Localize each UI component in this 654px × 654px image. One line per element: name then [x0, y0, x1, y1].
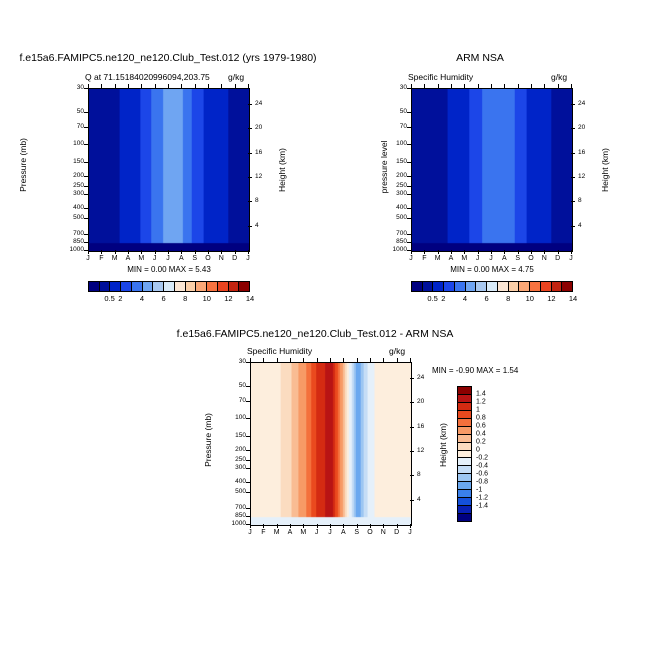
y-tick-label: 500 [235, 489, 246, 496]
month-tick-mark [317, 524, 318, 528]
month-tick-mark [221, 250, 222, 254]
height-tick-label: 8 [255, 198, 259, 205]
month-tick-mark [357, 358, 358, 362]
y-tick-mark [246, 468, 250, 469]
height-tick-mark [571, 104, 575, 105]
obs-colorbar-labels: 0.52468101214 [411, 294, 573, 304]
y-tick-label: 150 [396, 159, 407, 166]
month-tick-mark [101, 84, 102, 88]
y-tick-label: 150 [235, 433, 246, 440]
y-tick-label: 200 [73, 172, 84, 179]
y-tick-label: 70 [400, 124, 407, 131]
y-tick-mark [246, 401, 250, 402]
month-tick-mark [250, 524, 251, 528]
y-tick-mark [84, 176, 88, 177]
model-ylabel: Pressure (mb) [18, 125, 28, 205]
diff-panel-title: f.e15a6.FAMIPC5.ne120_ne120.Club_Test.01… [150, 328, 480, 340]
height-tick-label: 8 [417, 472, 421, 479]
colorbar-segment [475, 281, 486, 292]
month-tick-mark [544, 250, 545, 254]
month-tick-mark [438, 84, 439, 88]
y-tick-label: 100 [73, 140, 84, 147]
month-tick-mark [370, 524, 371, 528]
obs-subtitle-left: Specific Humidity [408, 72, 473, 82]
month-tick-mark [571, 250, 572, 254]
y-tick-label: 700 [235, 504, 246, 511]
colorbar-tick-label: 14 [569, 294, 577, 303]
month-tick-mark [478, 250, 479, 254]
y-tick-label: 400 [396, 204, 407, 211]
month-tick-mark [571, 84, 572, 88]
model-panel-title: f.e15a6.FAMIPC5.ne120_ne120.Club_Test.01… [8, 52, 328, 64]
height-tick-mark [571, 153, 575, 154]
colorbar-tick-label: -0.2 [476, 455, 488, 462]
model-ylabel-right: Height (km) [277, 135, 287, 205]
y-tick-label: 850 [73, 239, 84, 246]
month-tick-mark [250, 358, 251, 362]
colorbar-tick-label: 6 [162, 294, 166, 303]
y-tick-mark [407, 144, 411, 145]
month-tick-mark [424, 250, 425, 254]
month-tick-mark [277, 358, 278, 362]
colorbar-tick-label: 0.2 [476, 439, 486, 446]
month-tick-label: J [166, 255, 170, 262]
height-tick-mark [571, 226, 575, 227]
month-tick-label: J [315, 529, 319, 536]
month-tick-mark [411, 84, 412, 88]
month-tick-mark [290, 358, 291, 362]
y-tick-label: 850 [235, 513, 246, 520]
colorbar-segment [457, 410, 472, 418]
y-tick-label: 100 [235, 414, 246, 421]
month-tick-mark [248, 84, 249, 88]
height-tick-label: 8 [578, 198, 582, 205]
height-tick-mark [248, 201, 252, 202]
colorbar-tick-label: 2 [441, 294, 445, 303]
month-tick-label: F [99, 255, 103, 262]
colorbar-segment [443, 281, 454, 292]
colorbar-segment [457, 505, 472, 513]
y-tick-mark [407, 218, 411, 219]
month-tick-mark [277, 524, 278, 528]
colorbar-segment [411, 281, 422, 292]
model-colorbar[interactable] [88, 281, 250, 292]
month-tick-mark [383, 524, 384, 528]
y-tick-mark [407, 194, 411, 195]
y-tick-mark [246, 436, 250, 437]
month-tick-mark [491, 84, 492, 88]
obs-minmax: MIN = 0.00 MAX = 4.75 [411, 265, 573, 274]
y-tick-mark [246, 362, 250, 363]
colorbar-segment [561, 281, 573, 292]
month-tick-label: A [449, 255, 454, 262]
height-tick-label: 4 [578, 222, 582, 229]
month-tick-label: A [126, 255, 131, 262]
month-tick-mark [424, 84, 425, 88]
colorbar-tick-label: 2 [118, 294, 122, 303]
month-tick-mark [88, 84, 89, 88]
month-tick-mark [235, 250, 236, 254]
y-tick-mark [84, 218, 88, 219]
height-tick-label: 4 [255, 222, 259, 229]
y-tick-mark [407, 112, 411, 113]
height-tick-mark [571, 177, 575, 178]
y-tick-mark [407, 186, 411, 187]
month-tick-mark [115, 250, 116, 254]
colorbar-segment [529, 281, 540, 292]
colorbar-segment [142, 281, 153, 292]
month-tick-label: M [112, 255, 118, 262]
y-tick-mark [407, 234, 411, 235]
height-tick-mark [248, 153, 252, 154]
month-tick-label: J [248, 529, 252, 536]
month-tick-label: S [515, 255, 520, 262]
month-tick-mark [195, 84, 196, 88]
colorbar-segment [465, 281, 476, 292]
month-tick-mark [397, 358, 398, 362]
y-tick-label: 70 [239, 398, 246, 405]
month-tick-label: M [138, 255, 144, 262]
colorbar-segment [217, 281, 228, 292]
colorbar-segment [457, 442, 472, 450]
y-tick-label: 700 [73, 230, 84, 237]
height-tick-mark [410, 402, 414, 403]
colorbar-tick-label: 14 [246, 294, 254, 303]
y-tick-label: 300 [73, 191, 84, 198]
colorbar-tick-label: 8 [183, 294, 187, 303]
month-tick-label: D [394, 529, 399, 536]
y-tick-mark [84, 127, 88, 128]
colorbar-segment [457, 481, 472, 489]
month-tick-mark [128, 250, 129, 254]
height-tick-mark [248, 128, 252, 129]
month-tick-label: J [408, 529, 412, 536]
height-tick-mark [571, 201, 575, 202]
model-colorbar-labels: 0.52468101214 [88, 294, 250, 304]
month-tick-label: A [288, 529, 293, 536]
month-tick-mark [531, 250, 532, 254]
y-tick-mark [84, 242, 88, 243]
y-tick-label: 100 [396, 140, 407, 147]
colorbar-segment [432, 281, 443, 292]
colorbar-segment [508, 281, 519, 292]
month-tick-label: F [261, 529, 265, 536]
colorbar-tick-label: 10 [526, 294, 534, 303]
month-tick-mark [235, 84, 236, 88]
diff-ylabel: Pressure (mb) [203, 400, 213, 480]
y-tick-label: 50 [77, 108, 84, 115]
month-tick-label: M [461, 255, 467, 262]
month-tick-mark [317, 358, 318, 362]
colorbar-segment [457, 497, 472, 505]
obs-field-canvas [412, 89, 572, 251]
colorbar-segment [152, 281, 163, 292]
y-tick-mark [246, 482, 250, 483]
y-tick-label: 850 [396, 239, 407, 246]
month-tick-label: N [381, 529, 386, 536]
height-tick-mark [410, 427, 414, 428]
y-tick-mark [246, 508, 250, 509]
colorbar-tick-label: -1.2 [476, 495, 488, 502]
y-tick-mark [84, 234, 88, 235]
colorbar-segment [454, 281, 465, 292]
colorbar-tick-label: 0.6 [476, 423, 486, 430]
colorbar-segment [457, 394, 472, 402]
month-tick-label: N [219, 255, 224, 262]
month-tick-mark [195, 250, 196, 254]
colorbar-tick-label: -0.4 [476, 463, 488, 470]
month-tick-mark [88, 250, 89, 254]
y-tick-label: 250 [235, 457, 246, 464]
height-tick-mark [410, 378, 414, 379]
month-tick-mark [168, 250, 169, 254]
obs-colorbar[interactable] [411, 281, 573, 292]
colorbar-segment [120, 281, 131, 292]
y-tick-mark [246, 386, 250, 387]
colorbar-segment [457, 489, 472, 497]
month-tick-mark [438, 250, 439, 254]
colorbar-segment [109, 281, 120, 292]
y-tick-label: 500 [396, 215, 407, 222]
month-tick-label: J [489, 255, 493, 262]
colorbar-segment [551, 281, 562, 292]
colorbar-segment [486, 281, 497, 292]
month-tick-mark [181, 250, 182, 254]
colorbar-segment [457, 418, 472, 426]
y-tick-mark [84, 88, 88, 89]
month-tick-mark [410, 358, 411, 362]
height-tick-label: 20 [578, 125, 585, 132]
month-tick-mark [115, 84, 116, 88]
y-tick-label: 1000 [70, 247, 84, 254]
month-tick-mark [544, 84, 545, 88]
y-tick-mark [84, 186, 88, 187]
height-tick-mark [248, 177, 252, 178]
colorbar-segment [88, 281, 99, 292]
colorbar-segment [163, 281, 174, 292]
month-tick-label: O [205, 255, 210, 262]
colorbar-tick-label: 0.5 [104, 294, 114, 303]
month-tick-label: D [555, 255, 560, 262]
month-tick-label: F [422, 255, 426, 262]
y-tick-mark [407, 88, 411, 89]
y-tick-mark [407, 242, 411, 243]
month-tick-mark [141, 250, 142, 254]
month-tick-mark [397, 524, 398, 528]
colorbar-segment [457, 434, 472, 442]
obs-ylabel: pressure level [379, 127, 389, 207]
colorbar-segment [206, 281, 217, 292]
y-tick-mark [246, 492, 250, 493]
height-tick-label: 12 [255, 174, 262, 181]
y-tick-mark [84, 194, 88, 195]
month-tick-mark [410, 524, 411, 528]
colorbar-tick-label: 1 [476, 407, 480, 414]
y-tick-mark [84, 162, 88, 163]
y-tick-label: 70 [77, 124, 84, 131]
month-tick-label: A [502, 255, 507, 262]
height-tick-label: 24 [578, 101, 585, 108]
colorbar-tick-label: 10 [203, 294, 211, 303]
height-tick-label: 12 [417, 448, 424, 455]
y-tick-label: 150 [73, 159, 84, 166]
model-field-canvas [89, 89, 249, 251]
month-tick-label: S [354, 529, 359, 536]
y-tick-mark [84, 144, 88, 145]
y-tick-label: 1000 [232, 521, 246, 528]
y-tick-label: 200 [235, 446, 246, 453]
height-tick-label: 20 [417, 399, 424, 406]
y-tick-label: 30 [239, 359, 246, 366]
month-tick-mark [155, 250, 156, 254]
month-tick-mark [464, 84, 465, 88]
month-tick-mark [290, 524, 291, 528]
y-tick-label: 30 [400, 85, 407, 92]
month-tick-label: A [179, 255, 184, 262]
colorbar-tick-label: 8 [506, 294, 510, 303]
y-tick-mark [246, 460, 250, 461]
month-tick-mark [128, 84, 129, 88]
colorbar-segment [195, 281, 206, 292]
diff-subtitle-right: g/kg [389, 346, 405, 356]
height-tick-mark [571, 128, 575, 129]
obs-plot-area[interactable] [411, 88, 573, 252]
colorbar-segment [99, 281, 110, 292]
colorbar-tick-label: 12 [224, 294, 232, 303]
month-tick-mark [263, 524, 264, 528]
height-tick-label: 24 [255, 101, 262, 108]
diff-field-canvas [251, 363, 411, 525]
month-tick-mark [451, 250, 452, 254]
colorbar-tick-label: -1 [476, 487, 482, 494]
month-tick-mark [504, 84, 505, 88]
diff-subtitle-left: Specific Humidity [247, 346, 312, 356]
y-tick-mark [84, 112, 88, 113]
colorbar-segment [540, 281, 551, 292]
month-tick-mark [451, 84, 452, 88]
month-tick-mark [491, 250, 492, 254]
month-tick-mark [168, 84, 169, 88]
month-tick-mark [248, 250, 249, 254]
model-subtitle-left: Q at 71.15184020996094,203.75 [85, 72, 210, 82]
y-tick-mark [407, 176, 411, 177]
colorbar-segment [518, 281, 529, 292]
y-tick-mark [246, 516, 250, 517]
colorbar-segment [422, 281, 433, 292]
month-tick-label: D [232, 255, 237, 262]
y-tick-label: 200 [396, 172, 407, 179]
obs-subtitle-right: g/kg [551, 72, 567, 82]
month-tick-mark [518, 250, 519, 254]
month-tick-label: M [300, 529, 306, 536]
colorbar-segment [174, 281, 185, 292]
month-tick-mark [504, 250, 505, 254]
y-tick-mark [246, 450, 250, 451]
month-tick-mark [343, 358, 344, 362]
month-tick-mark [343, 524, 344, 528]
month-tick-mark [357, 524, 358, 528]
colorbar-segment [457, 513, 472, 522]
colorbar-segment [238, 281, 250, 292]
month-tick-mark [208, 250, 209, 254]
y-tick-label: 1000 [393, 247, 407, 254]
y-tick-label: 250 [396, 183, 407, 190]
colorbar-segment [457, 457, 472, 465]
y-tick-label: 50 [239, 382, 246, 389]
month-tick-label: A [341, 529, 346, 536]
height-tick-mark [248, 226, 252, 227]
month-tick-label: J [328, 529, 332, 536]
y-tick-mark [407, 127, 411, 128]
month-tick-label: J [476, 255, 480, 262]
colorbar-tick-label: 0.8 [476, 415, 486, 422]
colorbar-tick-label: 6 [485, 294, 489, 303]
colorbar-segment [497, 281, 508, 292]
month-tick-mark [383, 358, 384, 362]
height-tick-mark [410, 451, 414, 452]
month-tick-label: J [569, 255, 573, 262]
month-tick-mark [558, 84, 559, 88]
month-tick-label: J [153, 255, 157, 262]
colorbar-segment [185, 281, 196, 292]
colorbar-tick-label: 1.2 [476, 399, 486, 406]
colorbar-segment [457, 465, 472, 473]
month-tick-mark [464, 250, 465, 254]
diff-colorbar[interactable] [457, 386, 472, 522]
colorbar-tick-label: -0.8 [476, 479, 488, 486]
model-subtitle-right: g/kg [228, 72, 244, 82]
obs-panel-title: ARM NSA [400, 52, 560, 64]
diff-ylabel-right: Height (km) [438, 410, 448, 480]
y-tick-mark [246, 418, 250, 419]
month-tick-label: J [246, 255, 250, 262]
month-tick-mark [101, 250, 102, 254]
month-tick-mark [221, 84, 222, 88]
height-tick-mark [248, 104, 252, 105]
month-tick-label: O [528, 255, 533, 262]
diff-plot-area[interactable] [250, 362, 412, 526]
colorbar-segment [228, 281, 239, 292]
model-plot-area[interactable] [88, 88, 250, 252]
colorbar-segment [457, 473, 472, 481]
month-tick-mark [303, 524, 304, 528]
month-tick-mark [531, 84, 532, 88]
month-tick-mark [208, 84, 209, 88]
colorbar-tick-label: 12 [547, 294, 555, 303]
height-tick-mark [410, 500, 414, 501]
month-tick-mark [411, 250, 412, 254]
month-tick-label: J [86, 255, 90, 262]
month-tick-label: S [192, 255, 197, 262]
diff-minmax: MIN = -0.90 MAX = 1.54 [432, 366, 518, 375]
y-tick-label: 500 [73, 215, 84, 222]
colorbar-tick-label: 0.5 [427, 294, 437, 303]
month-tick-mark [558, 250, 559, 254]
month-tick-mark [518, 84, 519, 88]
height-tick-label: 16 [417, 423, 424, 430]
height-tick-label: 4 [417, 496, 421, 503]
colorbar-tick-label: -0.6 [476, 471, 488, 478]
colorbar-segment [131, 281, 142, 292]
colorbar-segment [457, 402, 472, 410]
month-tick-label: N [542, 255, 547, 262]
y-tick-label: 700 [396, 230, 407, 237]
height-tick-label: 16 [578, 149, 585, 156]
colorbar-tick-label: 0.4 [476, 431, 486, 438]
obs-ylabel-right: Height (km) [600, 135, 610, 205]
month-tick-mark [330, 358, 331, 362]
month-tick-label: O [367, 529, 372, 536]
